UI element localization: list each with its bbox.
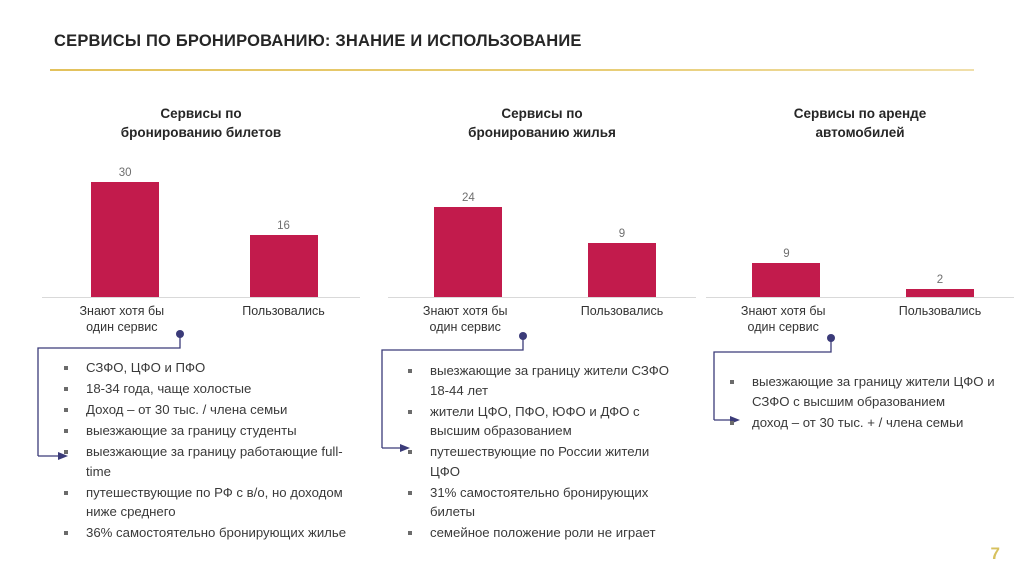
list-item: путешествующие по РФ с в/о, но доходом н… (60, 483, 360, 522)
list-item: выезжающие за границу жители СЗФО 18-44 … (404, 361, 679, 400)
category-label-line1: Знают хотя бы (79, 304, 164, 318)
bar-value-label: 9 (783, 248, 789, 260)
category-label-line1: Знают хотя бы (741, 304, 826, 318)
panel-heading-tickets: Сервисы по бронированию билетов (36, 104, 366, 142)
chart-plot-area: 30 16 (36, 152, 366, 298)
bar-know (434, 207, 502, 297)
bar-value-label: 24 (462, 192, 475, 204)
list-item: СЗФО, ЦФО и ПФО (60, 358, 360, 378)
panel-heading-line1: Сервисы по (160, 106, 241, 121)
bar-group-know: 24 (388, 151, 548, 297)
panel-car-rental: Сервисы по аренде автомобилей 9 2 Знают … (700, 104, 1020, 340)
list-item: путешествующие по России жители ЦФО (404, 442, 679, 481)
category-label-line2: один сервис (430, 320, 501, 334)
bar-group-know: 9 (706, 151, 866, 297)
category-label-line2: один сервис (86, 320, 157, 334)
list-item: 31% самостоятельно бронирующих билеты (404, 483, 679, 522)
bar-value-label: 16 (277, 220, 290, 232)
category-label-line1: Пользовались (899, 304, 982, 318)
chart-plot-area: 24 9 (382, 152, 702, 298)
bar-used (250, 235, 318, 297)
bar-used (588, 243, 656, 297)
category-label-line1: Пользовались (581, 304, 664, 318)
bar-group-used: 2 (860, 151, 1020, 297)
slide-canvas: СЕРВИСЫ ПО БРОНИРОВАНИЮ: ЗНАНИЕ И ИСПОЛЬ… (0, 0, 1024, 576)
list-item: выезжающие за границу жители ЦФО и СЗФО … (726, 372, 996, 411)
chart-axis-line (706, 297, 1014, 298)
category-label-used: Пользовались (542, 300, 702, 340)
page-number: 7 (991, 544, 1000, 564)
panel-tickets: Сервисы по бронированию билетов 30 16 Зн… (36, 104, 366, 340)
panel-heading-line2: бронированию билетов (121, 125, 281, 140)
bar-chart-car-rental: 9 2 Знают хотя бы один сервис Пользовали… (700, 152, 1020, 340)
panel-housing: Сервисы по бронированию жилья 24 9 Знают… (382, 104, 702, 340)
bar-know (91, 182, 159, 297)
bar-value-label: 2 (937, 274, 943, 286)
chart-category-labels: Знают хотя бы один сервис Пользовались (700, 300, 1020, 340)
category-label-know: Знают хотя бы один сервис (703, 300, 863, 340)
bullet-list-tickets: СЗФО, ЦФО и ПФО 18-34 года, чаще холосты… (60, 358, 360, 544)
list-item: доход – от 30 тыс. + / члена семьи (726, 413, 996, 433)
list-item: Доход – от 30 тыс. / члена семьи (60, 400, 360, 420)
category-label-used: Пользовались (201, 300, 366, 340)
bar-know (752, 263, 820, 297)
bar-used (906, 289, 974, 297)
chart-axis-line (388, 297, 696, 298)
chart-category-labels: Знают хотя бы один сервис Пользовались (36, 300, 366, 340)
bar-chart-housing: 24 9 Знают хотя бы один сервис Пользовал… (382, 152, 702, 340)
bar-chart-tickets: 30 16 Знают хотя бы один сервис Пользова… (36, 152, 366, 340)
list-item: 18-34 года, чаще холостые (60, 379, 360, 399)
list-item: выезжающие за границу работающие full-ti… (60, 442, 360, 481)
list-item: 36% самостоятельно бронирующих жилье (60, 523, 360, 543)
panel-heading-housing: Сервисы по бронированию жилья (382, 104, 702, 142)
category-label-know: Знают хотя бы один сервис (385, 300, 545, 340)
bullet-list-housing: выезжающие за границу жители СЗФО 18-44 … (404, 361, 679, 544)
panel-heading-line2: автомобилей (815, 125, 904, 140)
panel-heading-line2: бронированию жилья (468, 125, 616, 140)
panel-heading-line1: Сервисы по (501, 106, 582, 121)
chart-plot-area: 9 2 (700, 152, 1020, 298)
chart-category-labels: Знают хотя бы один сервис Пользовались (382, 300, 702, 340)
category-label-used: Пользовались (860, 300, 1020, 340)
category-label-know: Знают хотя бы один сервис (39, 300, 204, 340)
bar-group-used: 16 (201, 151, 366, 297)
page-title: СЕРВИСЫ ПО БРОНИРОВАНИЮ: ЗНАНИЕ И ИСПОЛЬ… (54, 32, 582, 51)
panel-heading-line1: Сервисы по аренде (794, 106, 927, 121)
list-item: семейное положение роли не играет (404, 523, 679, 543)
bar-value-label: 30 (119, 167, 132, 179)
list-item: выезжающие за границу студенты (60, 421, 360, 441)
panel-heading-car-rental: Сервисы по аренде автомобилей (700, 104, 1020, 142)
category-label-line1: Пользовались (242, 304, 325, 318)
list-item: жители ЦФО, ПФО, ЮФО и ДФО с высшим обра… (404, 402, 679, 441)
bar-group-used: 9 (542, 151, 702, 297)
category-label-line1: Знают хотя бы (423, 304, 508, 318)
title-divider (50, 69, 974, 71)
chart-axis-line (42, 297, 360, 298)
bullet-list-car-rental: выезжающие за границу жители ЦФО и СЗФО … (726, 372, 996, 434)
bar-group-know: 30 (43, 151, 208, 297)
category-label-line2: один сервис (748, 320, 819, 334)
bar-value-label: 9 (619, 228, 625, 240)
